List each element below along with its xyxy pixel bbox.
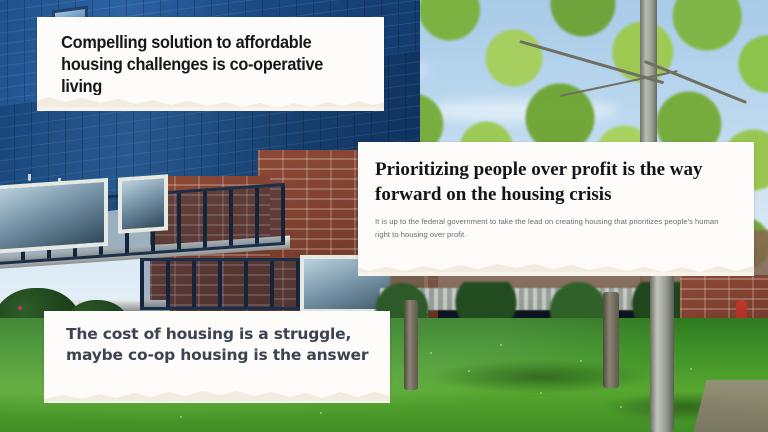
tree-trunk-front bbox=[650, 250, 674, 432]
headline-text-3: The cost of housing is a struggle, maybe… bbox=[44, 311, 390, 366]
headline-dek-2: It is up to the federal government to ta… bbox=[358, 207, 754, 241]
tree-trunk-mid bbox=[404, 300, 418, 390]
headline-text-2: Prioritizing people over profit is the w… bbox=[358, 142, 754, 207]
headline-card-2[interactable]: Prioritizing people over profit is the w… bbox=[358, 142, 754, 263]
garden-path bbox=[694, 380, 768, 432]
headline-card-1[interactable]: Compelling solution to affordable housin… bbox=[37, 17, 384, 98]
headline-card-3[interactable]: The cost of housing is a struggle, maybe… bbox=[44, 311, 390, 390]
slide-canvas: Compelling solution to affordable housin… bbox=[0, 0, 768, 432]
torn-paper-edge bbox=[358, 260, 754, 276]
window-lower bbox=[0, 178, 108, 254]
torn-paper-edge bbox=[37, 95, 384, 111]
window-lower bbox=[118, 174, 168, 233]
headline-text-1: Compelling solution to affordable housin… bbox=[37, 17, 360, 97]
balcony-railing-upper bbox=[140, 258, 300, 310]
torn-paper-edge bbox=[44, 387, 390, 403]
tree-trunk-mid bbox=[603, 292, 619, 388]
